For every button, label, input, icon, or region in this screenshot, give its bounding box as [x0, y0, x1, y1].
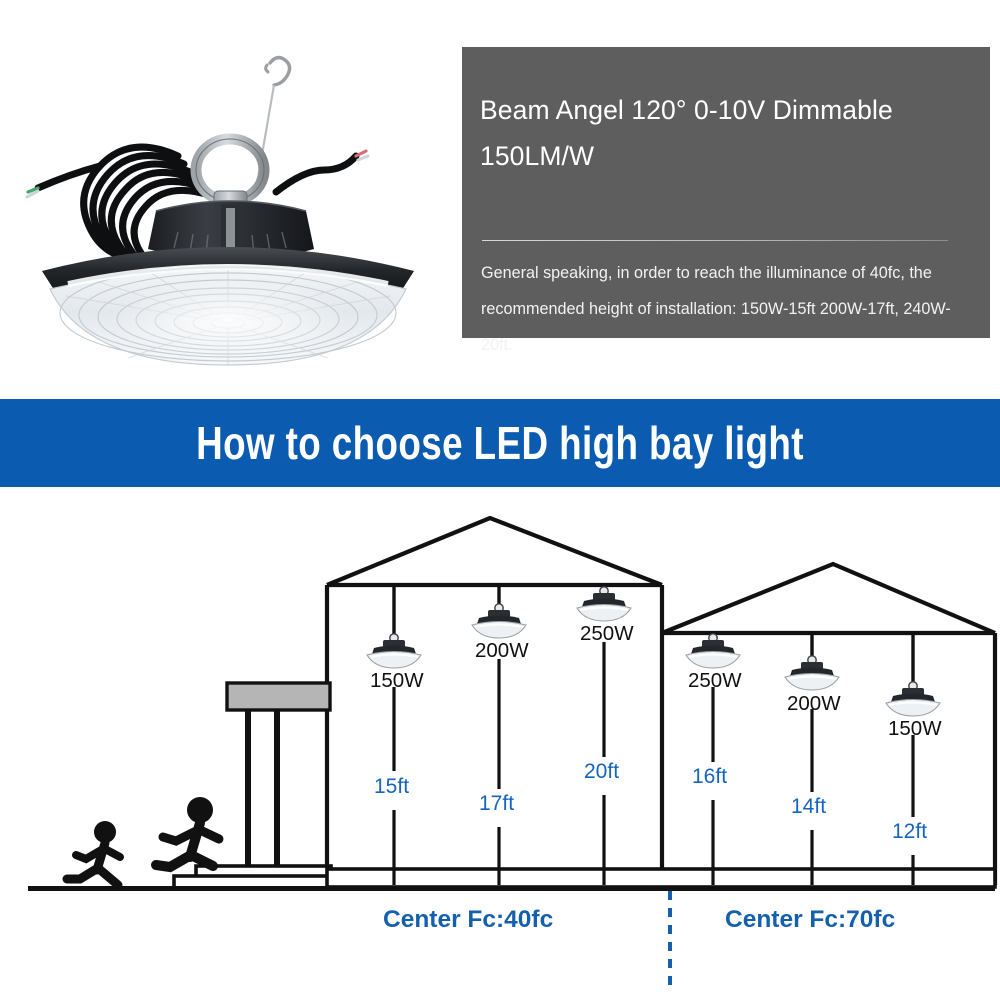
product-photo — [8, 28, 448, 373]
height-label-right-1: 16ft — [692, 765, 727, 789]
caption-right-bay: Center Fc:70fc — [725, 906, 895, 934]
ground-line — [28, 886, 995, 891]
driver-cable-right — [276, 156, 356, 192]
height-label-right-2: 14ft — [791, 795, 826, 819]
top-section: Beam Angel 120° 0-10V Dimmable 150LM/W G… — [0, 0, 1000, 395]
wire-lead-left — [27, 188, 38, 197]
lamp-label-watt-right-2: 200W — [787, 692, 841, 716]
lamp-250w-right — [686, 634, 740, 668]
lamp-200w-left — [472, 604, 526, 638]
diagram-area: 150W 200W 250W 250W 200W 150W 15ft 17ft … — [0, 487, 1000, 1000]
measure-lines-left — [394, 642, 604, 885]
lamp-150w-right — [886, 682, 940, 716]
spec-title: Beam Angel 120° 0-10V Dimmable 150LM/W — [480, 87, 972, 179]
running-person-small — [67, 821, 120, 885]
lamp-250w-left — [577, 587, 631, 621]
lamp-group — [367, 587, 940, 716]
banner-title: How to choose LED high bay light — [100, 399, 900, 487]
left-roof — [327, 518, 662, 585]
wire-lead-right — [356, 151, 368, 160]
entry-canopy — [227, 683, 330, 882]
height-label-left-1: 15ft — [374, 775, 409, 799]
spec-body-text: General speaking, in order to reach the … — [481, 255, 977, 363]
running-person-large — [156, 797, 219, 867]
height-label-left-3: 20ft — [584, 760, 619, 784]
spec-panel: Beam Angel 120° 0-10V Dimmable 150LM/W G… — [462, 47, 990, 338]
lamp-label-watt-right-1: 250W — [688, 669, 742, 693]
lamp-label-watt-left-3: 250W — [580, 622, 634, 646]
lens-assembly — [42, 247, 414, 365]
right-roof — [662, 564, 995, 633]
height-label-left-2: 17ft — [479, 792, 514, 816]
divider — [482, 240, 948, 241]
lamp-150w-left — [367, 634, 421, 668]
measure-lines-right — [713, 687, 913, 885]
high-bay-light-illustration — [8, 28, 448, 373]
height-label-right-3: 12ft — [892, 820, 927, 844]
floor-platform — [174, 866, 995, 889]
section-banner: How to choose LED high bay light — [0, 399, 1000, 487]
caption-left-bay: Center Fc:40fc — [383, 906, 553, 934]
lamp-label-watt-right-3: 150W — [888, 717, 942, 741]
lamp-label-watt-left-2: 200W — [475, 639, 529, 663]
lamp-200w-right — [785, 656, 839, 690]
lamp-label-watt-left-1: 150W — [370, 669, 424, 693]
